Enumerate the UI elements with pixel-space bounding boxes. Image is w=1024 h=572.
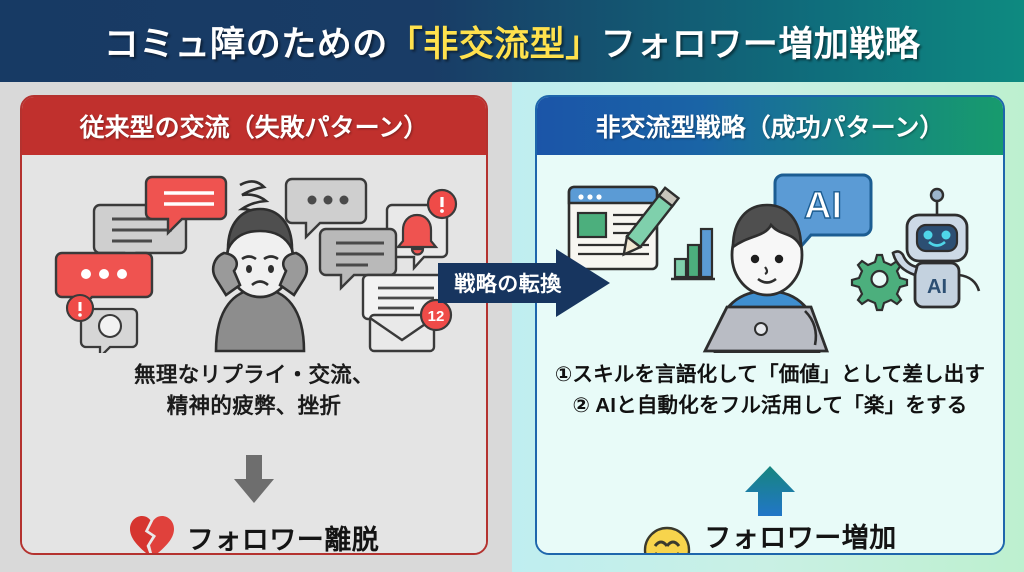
right-strategy-list: ①スキルを言語化して「価値」として差し出す ② AIと自動化をフル活用して「楽」… xyxy=(537,360,1003,422)
broken-heart-icon xyxy=(129,515,175,555)
right-result-subtext: （共感・価値で集客） xyxy=(704,553,897,555)
up-arrow-teal-icon xyxy=(741,465,799,517)
right-result-texts: フォロワー増加 （共感・価値で集客） xyxy=(704,523,897,555)
right-result: フォロワー増加 （共感・価値で集客） xyxy=(537,523,1003,555)
svg-text:AI: AI xyxy=(927,276,947,298)
right-panel-body: AI xyxy=(537,155,1003,553)
transition-arrow: 戦略の転換 xyxy=(438,249,610,317)
left-panel-header: 従来型の交流（失敗パターン） xyxy=(22,97,486,155)
page-title-prefix: コミュ障のための xyxy=(104,25,388,64)
right-panel-heading: 非交流型戦略（成功パターン） xyxy=(596,108,945,144)
left-panel-failure: 従来型の交流（失敗パターン） xyxy=(20,95,488,555)
bar-chart-icon xyxy=(671,229,715,279)
left-flow-arrow-wrap xyxy=(22,453,486,505)
robot-icon: AI xyxy=(893,189,979,307)
right-strategy-item-1: ①スキルを言語化して「価値」として差し出す xyxy=(537,360,1003,391)
page-title: コミュ障のための「非交流型」フォロワー増加戦略 xyxy=(104,16,921,67)
stressed-person-illustration: 12 xyxy=(40,163,470,353)
ai-workflow-illustration: AI xyxy=(555,163,985,353)
right-panel-header: 非交流型戦略（成功パターン） xyxy=(537,97,1003,155)
page-title-suffix: フォロワー増加戦略 xyxy=(601,25,921,64)
page-header: コミュ障のための「非交流型」フォロワー増加戦略 xyxy=(0,0,1024,82)
svg-text:AI: AI xyxy=(804,185,842,227)
right-strategy-item-2: ② AIと自動化をフル活用して「楽」をする xyxy=(537,391,1003,422)
stressed-person-figure xyxy=(213,209,307,351)
left-description-line2: 精神的疲弊、挫折 xyxy=(22,391,486,422)
ai-workflow-svg: AI xyxy=(555,163,985,353)
left-result-text: フォロワー離脱 xyxy=(187,518,380,556)
transition-arrow-shape xyxy=(438,249,610,317)
left-panel-body: 12 xyxy=(22,155,486,553)
stressed-person-svg: 12 xyxy=(40,163,470,353)
left-result: フォロワー離脱 xyxy=(22,515,486,555)
smiling-face-icon xyxy=(643,526,691,555)
infographic-page: コミュ障のための「非交流型」フォロワー増加戦略 従来型の交流（失敗パターン） xyxy=(0,0,1024,572)
right-result-text: フォロワー増加 xyxy=(704,523,897,553)
left-panel-heading: 従来型の交流（失敗パターン） xyxy=(80,108,429,144)
right-panel-success: 非交流型戦略（成功パターン） xyxy=(535,95,1005,555)
left-description-line1: 無理なリプライ・交流、 xyxy=(22,360,486,391)
chat-bubble-small-badge xyxy=(67,295,137,353)
right-flow-arrow-wrap xyxy=(537,465,1003,517)
down-arrow-gray-icon xyxy=(228,453,280,505)
page-title-highlight: 「非交流型」 xyxy=(388,25,601,64)
left-description: 無理なリプライ・交流、 精神的疲弊、挫折 xyxy=(22,360,486,421)
